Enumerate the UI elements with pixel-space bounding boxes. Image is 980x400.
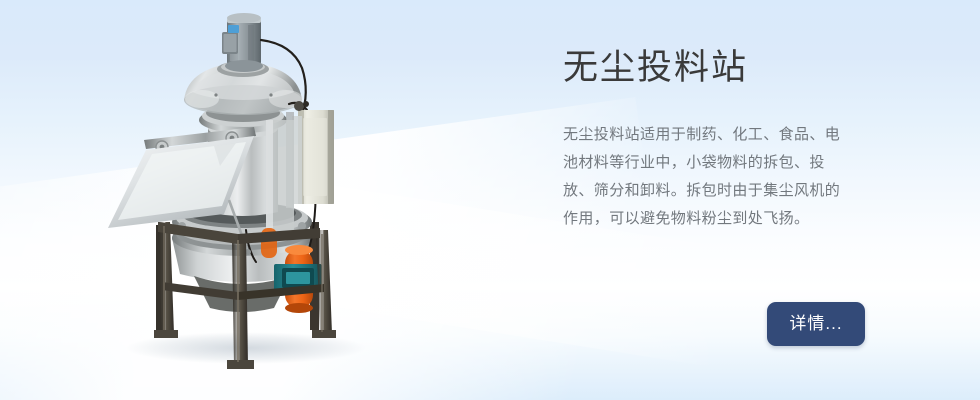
banner-text-block: 无尘投料站 无尘投料站适用于制药、化工、食品、电 池材料等行业中，小袋物料的拆包…: [563, 46, 903, 233]
description-line-3: 放、筛分和卸料。拆包时由于集尘风机的: [563, 177, 853, 205]
machine-rear-panel: [266, 120, 294, 236]
machine-top-motor: [222, 13, 263, 72]
description-line-2: 池材料等行业中，小袋物料的拆包、投: [563, 149, 853, 177]
product-photo-dust-free-feeding-station: [96, 0, 396, 375]
product-banner: 无尘投料站 无尘投料站适用于制药、化工、食品、电 池材料等行业中，小袋物料的拆包…: [0, 0, 980, 400]
description-line-1: 无尘投料站适用于制药、化工、食品、电: [563, 121, 853, 149]
page-title: 无尘投料站: [563, 46, 903, 90]
description-line-4: 作用，可以避免物料粉尘到处飞扬。: [563, 205, 853, 233]
cta-container: 详情...: [767, 302, 865, 346]
details-button[interactable]: 详情...: [767, 302, 865, 346]
product-description: 无尘投料站适用于制药、化工、食品、电 池材料等行业中，小袋物料的拆包、投 放、筛…: [563, 90, 853, 233]
